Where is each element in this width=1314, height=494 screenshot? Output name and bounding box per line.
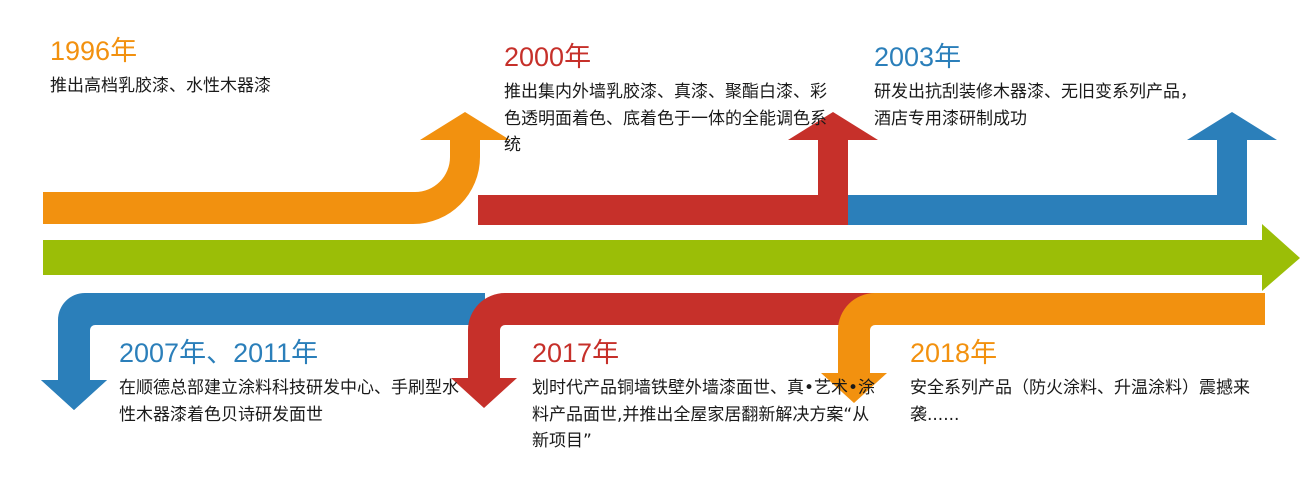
- milestone-2000-description: 推出集内外墙乳胶漆、真漆、聚酯白漆、彩色透明面着色、底着色于一体的全能调色系统: [504, 79, 834, 158]
- milestone-1996-description: 推出高档乳胶漆、水性木器漆: [50, 73, 480, 99]
- milestone-1996-year: 1996年: [50, 36, 480, 66]
- orange-elbow-up-arrow: [43, 112, 510, 224]
- green-right-arrow: [43, 224, 1300, 291]
- milestone-2003: 2003年 研发出抗刮装修木器漆、无旧变系列产品，酒店专用漆研制成功: [874, 42, 1204, 132]
- milestone-2000-year: 2000年: [504, 42, 834, 72]
- milestone-2017-year: 2017年: [532, 338, 884, 368]
- milestone-2007-2011-year: 2007年、2011年: [119, 338, 469, 368]
- milestone-2003-year: 2003年: [874, 42, 1204, 72]
- milestone-2007-2011-description: 在顺德总部建立涂料科技研发中心、手刷型水性木器漆着色贝诗研发面世: [119, 375, 469, 428]
- milestone-2018-description: 安全系列产品（防火涂料、升温涂料）震撼来袭......: [910, 375, 1250, 428]
- milestone-2017: 2017年 划时代产品铜墙铁壁外墙漆面世、真•艺术•涂料产品面世,并推出全屋家居…: [532, 338, 884, 454]
- milestone-2003-description: 研发出抗刮装修木器漆、无旧变系列产品，酒店专用漆研制成功: [874, 79, 1204, 132]
- milestone-1996: 1996年 推出高档乳胶漆、水性木器漆: [50, 36, 480, 100]
- milestone-2018: 2018年 安全系列产品（防火涂料、升温涂料）震撼来袭......: [910, 338, 1250, 428]
- milestone-2017-description: 划时代产品铜墙铁壁外墙漆面世、真•艺术•涂料产品面世,并推出全屋家居翻新解决方案…: [532, 375, 884, 454]
- milestone-2000: 2000年 推出集内外墙乳胶漆、真漆、聚酯白漆、彩色透明面着色、底着色于一体的全…: [504, 42, 834, 158]
- milestone-2007-2011: 2007年、2011年 在顺德总部建立涂料科技研发中心、手刷型水性木器漆着色贝诗…: [119, 338, 469, 428]
- milestone-2018-year: 2018年: [910, 338, 1250, 368]
- timeline-infographic: 1996年 推出高档乳胶漆、水性木器漆 2000年 推出集内外墙乳胶漆、真漆、聚…: [0, 0, 1314, 494]
